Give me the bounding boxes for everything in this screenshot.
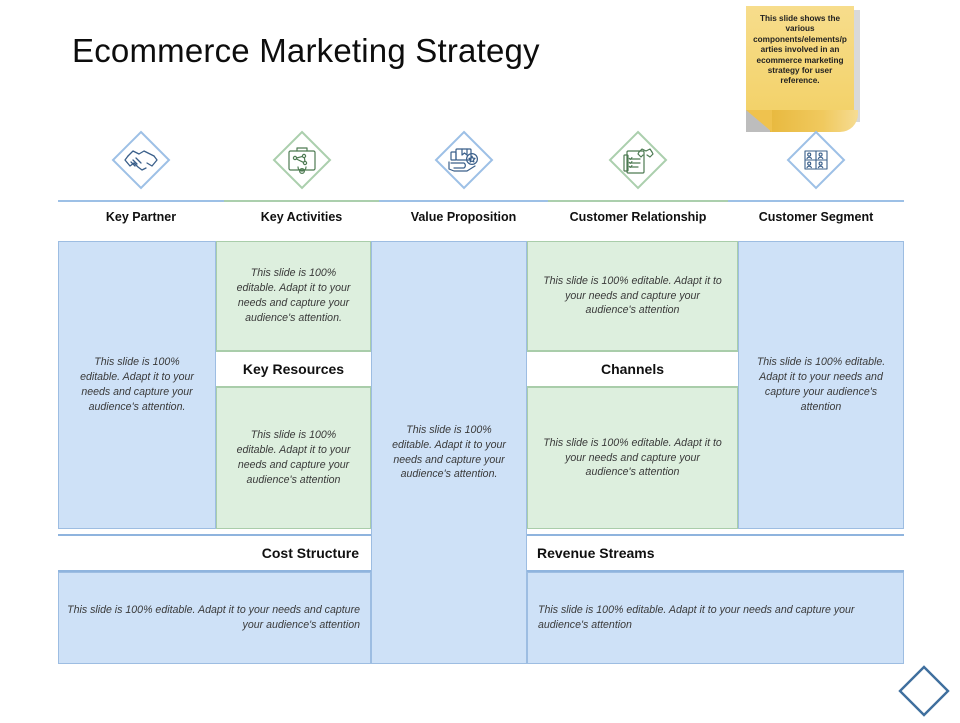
business-model-grid: This slide is 100% editable. Adapt it to… xyxy=(58,241,904,664)
header-key-partner[interactable]: Key Partner xyxy=(58,128,224,238)
label-revenue-streams-text: Revenue Streams xyxy=(527,545,655,561)
handshake-icon xyxy=(111,130,171,190)
page-title: Ecommerce Marketing Strategy xyxy=(72,32,540,70)
hand-package-icon xyxy=(434,130,494,190)
label-cost-structure-text: Cost Structure xyxy=(262,545,371,561)
people-grid-icon xyxy=(786,130,846,190)
cell-key-partner-text: This slide is 100% editable. Adapt it to… xyxy=(59,355,215,414)
label-cost-structure[interactable]: Cost Structure xyxy=(58,534,371,572)
cell-value-proposition-text: This slide is 100% editable. Adapt it to… xyxy=(372,423,526,482)
cell-key-resources[interactable]: This slide is 100% editable. Adapt it to… xyxy=(216,387,371,529)
header-rule-customer-segment xyxy=(728,200,904,202)
cell-customer-segment[interactable]: This slide is 100% editable. Adapt it to… xyxy=(738,241,904,529)
sticky-note: This slide shows the various components/… xyxy=(746,6,862,128)
header-label-key-partner: Key Partner xyxy=(58,210,224,224)
corner-diamond-decoration xyxy=(897,664,951,718)
cell-cost-structure-text: This slide is 100% editable. Adapt it to… xyxy=(59,603,370,633)
clipboard-check-icon xyxy=(608,130,668,190)
cell-key-partner[interactable]: This slide is 100% editable. Adapt it to… xyxy=(58,241,216,529)
header-label-value-proposition: Value Proposition xyxy=(379,210,548,224)
header-label-customer-segment: Customer Segment xyxy=(728,210,904,224)
cell-channels-text: This slide is 100% editable. Adapt it to… xyxy=(528,436,737,480)
header-key-activities[interactable]: Key Activities xyxy=(224,128,379,238)
cell-key-resources-text: This slide is 100% editable. Adapt it to… xyxy=(217,428,370,487)
label-channels-text: Channels xyxy=(601,361,664,377)
header-rule-key-partner xyxy=(58,200,224,202)
header-customer-relationship[interactable]: Customer Relationship xyxy=(548,128,728,238)
cell-value-proposition[interactable]: This slide is 100% editable. Adapt it to… xyxy=(371,241,527,664)
cell-revenue-streams-text: This slide is 100% editable. Adapt it to… xyxy=(528,603,903,633)
cell-revenue-streams[interactable]: This slide is 100% editable. Adapt it to… xyxy=(527,572,904,664)
slide-canvas: Ecommerce Marketing Strategy This slide … xyxy=(0,0,960,720)
header-value-proposition[interactable]: Value Proposition xyxy=(379,128,548,238)
cell-cost-structure[interactable]: This slide is 100% editable. Adapt it to… xyxy=(58,572,371,664)
sticky-note-text: This slide shows the various components/… xyxy=(751,14,849,87)
header-label-customer-relationship: Customer Relationship xyxy=(548,210,728,224)
label-key-resources-text: Key Resources xyxy=(243,361,344,377)
cell-key-activities-text: This slide is 100% editable. Adapt it to… xyxy=(217,266,370,325)
cell-customer-relationship[interactable]: This slide is 100% editable. Adapt it to… xyxy=(527,241,738,351)
cell-customer-segment-text: This slide is 100% editable. Adapt it to… xyxy=(739,355,903,414)
label-key-resources[interactable]: Key Resources xyxy=(216,351,371,387)
cell-key-activities[interactable]: This slide is 100% editable. Adapt it to… xyxy=(216,241,371,351)
briefcase-icon xyxy=(272,130,332,190)
header-customer-segment[interactable]: Customer Segment xyxy=(728,128,904,238)
cell-customer-relationship-text: This slide is 100% editable. Adapt it to… xyxy=(528,274,737,318)
cell-channels[interactable]: This slide is 100% editable. Adapt it to… xyxy=(527,387,738,529)
header-rule-customer-relationship xyxy=(548,200,728,202)
label-revenue-streams[interactable]: Revenue Streams xyxy=(527,534,904,572)
header-label-key-activities: Key Activities xyxy=(224,210,379,224)
label-channels[interactable]: Channels xyxy=(527,351,738,387)
header-rule-key-activities xyxy=(224,200,379,202)
column-header-row: Key Partner xyxy=(58,128,904,238)
sticky-note-body: This slide shows the various components/… xyxy=(746,6,854,110)
header-rule-value-proposition xyxy=(379,200,548,202)
